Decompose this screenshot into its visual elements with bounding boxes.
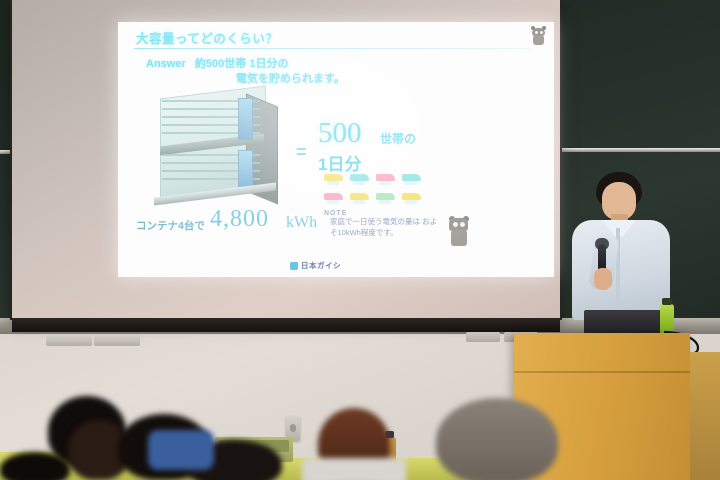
slide-answer-line2: 電気を貯められます。 xyxy=(236,70,345,86)
presentation-slide: 大容量ってどのくらい？ Answer 約500世帯 1日分の 電気を貯められます… xyxy=(118,22,554,277)
projection-screen: 大容量ってどのくらい？ Answer 約500世帯 1日分の 電気を貯められます… xyxy=(12,0,560,318)
company-logo: 日本ガイシ xyxy=(290,260,341,271)
big-number-line2: 1日分 xyxy=(318,150,361,175)
cat-mascot-icon xyxy=(531,28,546,47)
eraser-right xyxy=(94,334,140,346)
big-number-suffix: 世帯の xyxy=(380,130,416,147)
house-icon xyxy=(402,193,421,204)
eraser-center xyxy=(466,332,500,342)
kwh-unit: kWh xyxy=(286,214,317,232)
slide-title-rule xyxy=(134,48,532,49)
house-icon xyxy=(324,193,343,204)
house-icon xyxy=(376,193,395,204)
tea-bottle-cap xyxy=(662,298,672,305)
slide-answer-line1: Answer 約500世帯 1日分の xyxy=(146,55,288,71)
eraser-left xyxy=(46,334,92,346)
house-icon xyxy=(350,174,369,185)
photo-scene: 大容量ってどのくらい？ Answer 約500世帯 1日分の 電気を貯められます… xyxy=(0,0,720,480)
house-row-2 xyxy=(324,193,434,204)
kwh-label: コンテナ4台で xyxy=(136,218,205,233)
house-row-1 xyxy=(324,174,434,185)
house-icon xyxy=(402,174,421,185)
note-title: NOTE xyxy=(324,210,444,217)
bear-mascot-icon xyxy=(448,218,470,248)
house-icon xyxy=(350,193,369,204)
house-icon xyxy=(324,174,343,185)
note-block: NOTE 家庭で一日使う電気の量は およそ10kWh程度です。 xyxy=(324,210,444,239)
logo-text: 日本ガイシ xyxy=(301,260,341,271)
podium-side-panel xyxy=(690,352,720,480)
answer-text-1: 約500世帯 1日分の xyxy=(195,58,289,70)
chalk-rail-right xyxy=(536,148,720,152)
battery-container-illustration xyxy=(154,86,282,204)
audience-shirt xyxy=(148,430,214,470)
house-icon-grid xyxy=(324,174,434,212)
audience-head-foreground xyxy=(436,398,558,480)
podium-seam xyxy=(514,371,690,373)
presenter-hand xyxy=(594,268,612,290)
kwh-number: 4,800 xyxy=(210,206,269,233)
container-door-upper xyxy=(238,98,253,140)
logo-mark-icon xyxy=(290,262,298,270)
audience-shoulders xyxy=(302,458,406,480)
slide-title: 大容量ってどのくらい？ xyxy=(136,28,278,47)
note-body: 家庭で一日使う電気の量は およそ10kWh程度です。 xyxy=(330,217,444,239)
equals-sign: = xyxy=(296,142,307,163)
answer-label: Answer xyxy=(146,58,186,70)
big-number-500: 500 xyxy=(318,117,362,150)
house-icon xyxy=(376,174,395,185)
audience-head xyxy=(0,452,70,480)
